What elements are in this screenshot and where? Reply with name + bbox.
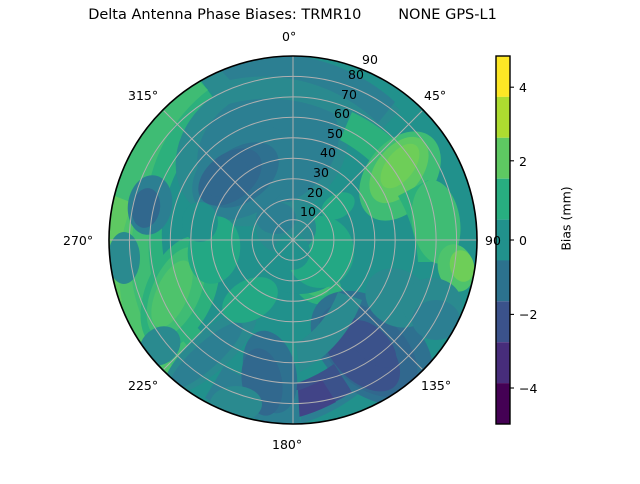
radial-label-70: 70 [341,87,357,102]
azimuth-label-135: 135° [421,378,451,393]
polar-contour-plot [0,0,640,480]
colorbar-tick-2: 2 [519,154,527,169]
radial-label-50: 50 [327,126,343,141]
azimuth-label-90: 90 [485,233,501,248]
polar-grid [109,56,477,424]
polar-axes: 0° 45° 90 135° 180° 225° 270° 315° 10 20… [0,0,640,480]
radial-label-10: 10 [300,204,316,219]
figure-canvas: Delta Antenna Phase Biases: TRMR10 NONE … [0,0,640,480]
azimuth-label-180: 180° [272,437,302,452]
radial-label-40: 40 [320,145,336,160]
radial-label-30: 30 [313,165,329,180]
colorbar-axis-title: Bias (mm) [559,186,574,250]
azimuth-label-0: 0° [282,29,296,44]
colorbar-tick-minus4: −4 [519,381,537,396]
radial-label-20: 20 [307,185,323,200]
radial-label-90: 90 [362,52,378,67]
azimuth-label-45: 45° [424,88,446,103]
azimuth-label-270: 270° [63,233,93,248]
colorbar-tick-minus2: −2 [519,307,537,322]
azimuth-label-225: 225° [128,378,158,393]
radial-label-60: 60 [334,106,350,121]
azimuth-label-315: 315° [128,88,158,103]
colorbar-tick-4: 4 [519,80,527,95]
colorbar-tick-0: 0 [519,233,527,248]
radial-label-80: 80 [348,67,364,82]
